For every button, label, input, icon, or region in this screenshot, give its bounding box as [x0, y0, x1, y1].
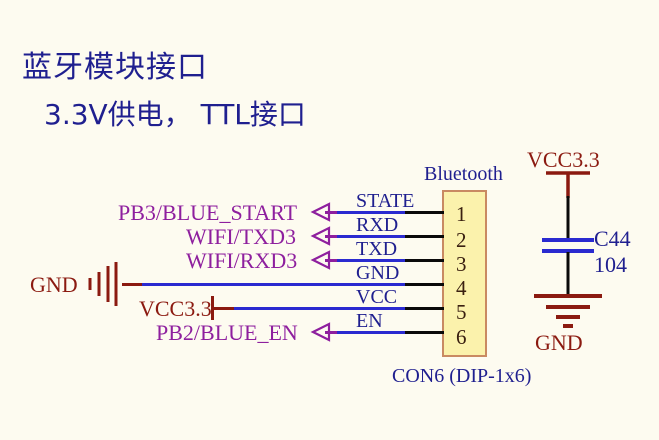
pin-number-5: 5 [456, 300, 467, 325]
pin-name-2: RXD [356, 214, 398, 237]
pin-name-4: GND [356, 262, 399, 285]
wire-segment-pin2-black [405, 235, 444, 238]
capacitor-designator-label: C44 [594, 226, 631, 252]
wire-segment-pin2-blue [337, 235, 407, 238]
net-label-gnd-left: GND [30, 272, 78, 298]
wire-segment-pin6-blue [337, 331, 407, 334]
wire-segment-pin5-red [212, 307, 236, 310]
wire-segment-pin3-black [405, 259, 444, 262]
pin-number-3: 3 [456, 252, 467, 277]
capacitor-value-label: 104 [594, 252, 627, 278]
pin-number-1: 1 [456, 202, 467, 227]
pin-name-3: TXD [356, 238, 397, 261]
pin-number-6: 6 [456, 325, 467, 350]
net-label-pb2-blue-en: PB2/BLUE_EN [156, 320, 298, 346]
net-label-wifi-txd3: WIFI/TXD3 [186, 224, 296, 250]
pin-name-6: EN [356, 310, 383, 333]
wire-segment-pin6-black [405, 331, 444, 334]
connector-footprint-label: CON6 (DIP-1x6) [392, 365, 531, 388]
ground-symbol-left-icon [86, 262, 126, 306]
wire-segment-pin4-blue [142, 283, 407, 286]
net-label-wifi-rxd3: WIFI/RXD3 [186, 248, 297, 274]
net-label-pb3-blue-start: PB3/BLUE_START [118, 200, 297, 226]
pin-number-4: 4 [456, 276, 467, 301]
schematic-canvas: 蓝牙模块接口 3.3V供电， TTL接口 Bluetooth 1 2 3 4 5… [0, 0, 659, 440]
pin-number-2: 2 [456, 228, 467, 253]
wire-segment-pin3-blue [337, 259, 407, 262]
wire-segment-pin1-blue [337, 211, 407, 214]
connector-designator-label: Bluetooth [424, 163, 503, 186]
wire-segment-pin1-black [405, 211, 444, 214]
page-title: 蓝牙模块接口 [22, 42, 208, 86]
net-label-vcc33-left: VCC3.3 [139, 296, 212, 322]
pin-name-1: STATE [356, 190, 414, 213]
wire-segment-pin5-black [405, 307, 444, 310]
net-label-gnd-cap: GND [535, 330, 583, 356]
page-subtitle: 3.3V供电， TTL接口 [44, 93, 306, 133]
wire-segment-pin5-blue [234, 307, 407, 310]
wire-segment-pin4-black [405, 283, 444, 286]
pin-name-5: VCC [356, 286, 397, 309]
